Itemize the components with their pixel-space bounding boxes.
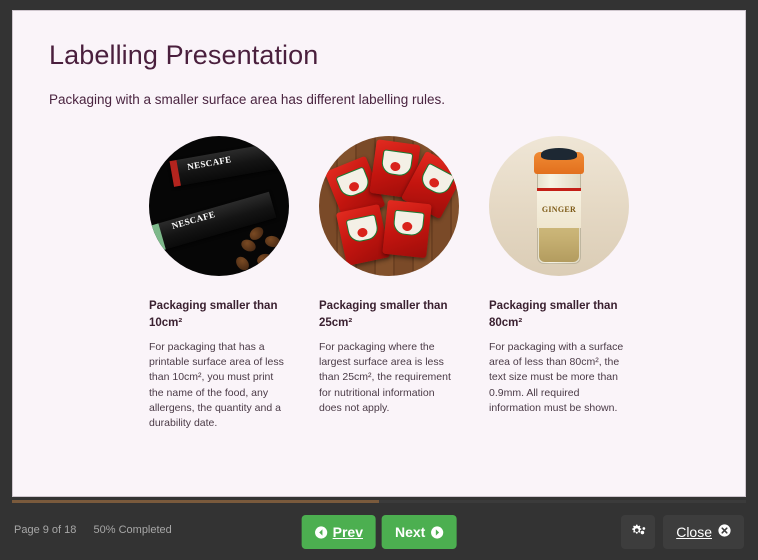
slide-content: Labelling Presentation Packaging with a …	[13, 11, 745, 431]
prev-button-label: Prev	[333, 524, 363, 540]
page-subtitle: Packaging with a smaller surface area ha…	[49, 91, 709, 110]
column-heading: Packaging smaller than 25cm²	[319, 298, 459, 331]
progress-bar-track	[12, 500, 746, 503]
next-button-label: Next	[395, 524, 425, 540]
coffee-bean-shape	[233, 255, 251, 274]
ginger-label-text: GINGER	[542, 205, 576, 214]
heinz-ketchup-sachets-photo	[319, 136, 459, 276]
column-heading: Packaging smaller than 10cm²	[149, 298, 289, 331]
coffee-bean-shape	[264, 235, 281, 248]
ketchup-sachet-shape	[382, 200, 431, 258]
arrow-right-circle-icon	[430, 526, 443, 539]
toolbar-right-controls: Close	[621, 515, 744, 549]
column-body-text: For packaging that has a printable surfa…	[149, 340, 289, 431]
close-button-label: Close	[676, 524, 712, 540]
page-counter: Page 9 of 18	[14, 524, 76, 536]
close-button[interactable]: Close	[663, 515, 744, 549]
content-column-1: NESCAFE NESCAFE Packaging smaller than 1…	[149, 136, 289, 431]
status-text: Page 9 of 18 50% Completed	[14, 524, 172, 536]
settings-button[interactable]	[621, 515, 655, 549]
nescafe-coffee-sachets-photo: NESCAFE NESCAFE	[149, 136, 289, 276]
arrow-left-circle-icon	[315, 526, 328, 539]
bottom-toolbar: Page 9 of 18 50% Completed Prev Next	[0, 505, 758, 560]
coffee-bean-shape	[256, 253, 273, 268]
prev-button[interactable]: Prev	[302, 515, 376, 549]
close-circle-icon	[718, 524, 731, 540]
next-button[interactable]: Next	[382, 515, 456, 549]
content-column-2: Packaging smaller than 25cm² For packagi…	[319, 136, 459, 431]
navigation-buttons: Prev Next	[302, 515, 457, 549]
slide-panel: Labelling Presentation Packaging with a …	[12, 10, 746, 497]
column-body-text: For packaging with a surface area of les…	[489, 340, 629, 416]
ketchup-sachet-shape	[336, 204, 390, 266]
jar-label-shape: GINGER	[537, 188, 581, 228]
page-title: Labelling Presentation	[49, 39, 709, 71]
settings-gear-icon	[630, 522, 647, 542]
content-columns: NESCAFE NESCAFE Packaging smaller than 1…	[49, 136, 709, 431]
schwartz-ginger-jar-photo: GINGER	[489, 136, 629, 276]
presentation-window: Labelling Presentation Packaging with a …	[0, 0, 758, 560]
column-body-text: For packaging where the largest surface …	[319, 340, 459, 416]
column-heading: Packaging smaller than 80cm²	[489, 298, 629, 331]
completion-percent: 50% Completed	[94, 524, 172, 536]
content-column-3: GINGER Packaging smaller than 80cm² For …	[489, 136, 629, 431]
progress-bar-fill	[12, 500, 379, 503]
jar-cap-top-shape	[541, 148, 577, 160]
